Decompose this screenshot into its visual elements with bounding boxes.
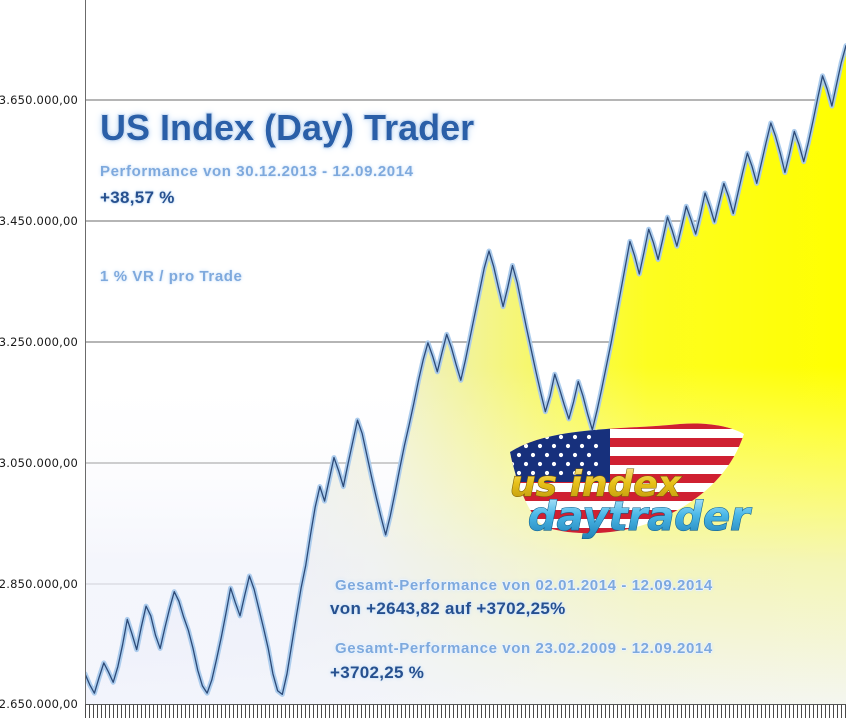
gesamt-performance-2-period: Gesamt-Performance von 23.02.2009 - 12.0… <box>335 640 713 657</box>
y-axis-tick-label: 2.850.000,00 <box>0 577 78 591</box>
performance-value: +38,57 % <box>100 188 175 208</box>
y-axis-line <box>85 0 86 704</box>
y-axis-labels: 3.650.000,00 3.450.000,00 3.250.000,00 3… <box>0 0 78 718</box>
risk-per-trade-label: 1 % VR / pro Trade <box>100 268 243 285</box>
gesamt-performance-2-value: +3702,25 % <box>330 663 424 683</box>
y-axis-tick-label: 2.650.000,00 <box>0 697 78 711</box>
page-title: US Index (Day) Trader <box>100 107 474 149</box>
performance-period-label: Performance von 30.12.2013 - 12.09.2014 <box>100 163 414 180</box>
gesamt-performance-1-period: Gesamt-Performance von 02.01.2014 - 12.0… <box>335 577 713 594</box>
y-axis-tick-label: 3.450.000,00 <box>0 214 78 228</box>
chart-canvas: 3.650.000,00 3.450.000,00 3.250.000,00 3… <box>0 0 846 718</box>
y-axis-tick-label: 3.250.000,00 <box>0 335 78 349</box>
y-axis-tick-label: 3.650.000,00 <box>0 93 78 107</box>
y-axis-tick-label: 3.050.000,00 <box>0 456 78 470</box>
x-axis-ticks <box>85 705 846 718</box>
gesamt-performance-1-value: von +2643,82 auf +3702,25% <box>330 599 566 619</box>
